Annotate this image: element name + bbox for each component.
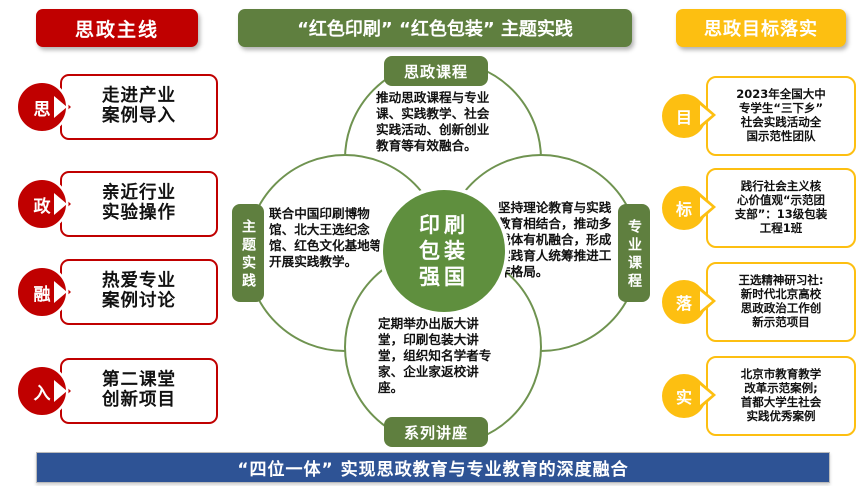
right-callout-1-line1: 2023年全国大中 [736, 88, 826, 102]
petal-label-right: 专业课程 [618, 204, 650, 302]
right-callout-1-line2: 专学生“三下乡” [739, 102, 823, 116]
right-arrow-inner-icon-2 [700, 197, 712, 217]
right-callout-2-box: 践行社会主义核 心价值观“示范团 支部”：13级包装 工程1班 [706, 168, 856, 248]
petal-label-top: 思政课程 [384, 56, 488, 86]
right-arrow-inner-icon-4 [700, 385, 712, 405]
left-arrow-inner-icon-2 [54, 193, 67, 215]
left-arrow-inner-icon-4 [54, 380, 67, 402]
right-callout-4-line2: 改革示范案例; [744, 382, 818, 396]
right-callout-3: 王选精神研习社: 新时代北京高校 思政政治工作创 新示范项目 落 [660, 262, 856, 342]
right-arrow-inner-icon-1 [700, 105, 712, 125]
left-callout-1-line2: 案例导入 [102, 107, 176, 127]
right-callout-3-line3: 思政政治工作创 [741, 302, 822, 316]
right-callout-2-line2: 心价值观“示范团 [737, 194, 825, 208]
petal-bottom-text: 定期举办出版大讲堂，印刷包装大讲堂，组织知名学者专家、企业家返校讲座。 [378, 316, 502, 397]
left-callout-2: 亲近行业 实验操作 政 [18, 171, 218, 237]
petal-left-text: 联合中国印刷博物馆、北大王选纪念馆、红色文化基地等开展实践教学。 [269, 206, 391, 270]
left-callout-4-line1: 第二课堂 [102, 371, 176, 391]
left-callout-1-box: 走进产业 案例导入 [60, 74, 218, 140]
header-pill-left: 思政主线 [36, 9, 198, 47]
right-callout-2-line4: 工程1班 [760, 222, 803, 236]
left-callout-1: 走进产业 案例导入 思 [18, 74, 218, 140]
diagram-core-circle: 印刷 包装 强国 [379, 186, 509, 316]
left-callout-3-box: 热爱专业 案例讨论 [60, 259, 218, 325]
right-callout-2: 践行社会主义核 心价值观“示范团 支部”：13级包装 工程1班 标 [660, 168, 856, 248]
footer-banner: “四位一体” 实现思政教育与专业教育的深度融合 [36, 452, 830, 483]
right-callout-4-line1: 北京市教育教学 [741, 368, 822, 382]
right-callout-4-line4: 实践优秀案例 [747, 410, 816, 424]
core-line-3: 强国 [419, 264, 469, 290]
left-callout-3: 热爱专业 案例讨论 融 [18, 259, 218, 325]
right-arrow-inner-icon-3 [700, 291, 712, 311]
left-callout-2-line1: 亲近行业 [102, 184, 176, 204]
header-pill-center: “红色印刷” “红色包装” 主题实践 [238, 9, 632, 47]
left-callout-1-line1: 走进产业 [102, 87, 176, 107]
header-pill-right: 思政目标落实 [676, 9, 846, 47]
left-callout-4: 第二课堂 创新项目 入 [18, 358, 218, 424]
left-callout-2-box: 亲近行业 实验操作 [60, 171, 218, 237]
right-callout-4-box: 北京市教育教学 改革示范案例; 首都大学生社会 实践优秀案例 [706, 356, 856, 436]
petal-label-bottom: 系列讲座 [384, 417, 488, 447]
left-arrow-inner-icon-1 [54, 96, 67, 118]
right-callout-4: 北京市教育教学 改革示范案例; 首都大学生社会 实践优秀案例 实 [660, 356, 856, 436]
left-callout-3-line2: 案例讨论 [102, 292, 176, 312]
right-callout-1: 2023年全国大中 专学生“三下乡” 社会实践活动全 国示范性团队 目 [660, 76, 856, 156]
right-callout-3-line4: 新示范项目 [752, 316, 810, 330]
right-callout-2-line1: 践行社会主义核 [741, 180, 822, 194]
right-callout-1-box: 2023年全国大中 专学生“三下乡” 社会实践活动全 国示范性团队 [706, 76, 856, 156]
core-line-1: 印刷 [419, 212, 469, 238]
four-petal-diagram: 推动思政课程与专业课、实践教学、社会实践活动、创新创业教育等有效融合。 联合中国… [226, 58, 656, 450]
left-callout-2-line2: 实验操作 [102, 204, 176, 224]
right-callout-4-line3: 首都大学生社会 [741, 396, 822, 410]
left-arrow-inner-icon-3 [54, 281, 67, 303]
right-callout-1-line4: 国示范性团队 [747, 130, 816, 144]
right-callout-3-box: 王选精神研习社: 新时代北京高校 思政政治工作创 新示范项目 [706, 262, 856, 342]
petal-right-text: 坚持理论教育与实践教育相结合，推动多载体有机融合，形成实践育人统筹推进工作格局。 [498, 200, 620, 281]
slide-canvas: 思政主线 “红色印刷” “红色包装” 主题实践 思政目标落实 走进产业 案例导入… [0, 0, 864, 486]
right-callout-2-line3: 支部”：13级包装 [735, 208, 828, 222]
left-callout-3-line1: 热爱专业 [102, 272, 176, 292]
left-callout-4-box: 第二课堂 创新项目 [60, 358, 218, 424]
right-callout-1-line3: 社会实践活动全 [741, 116, 822, 130]
right-callout-3-line2: 新时代北京高校 [741, 288, 822, 302]
right-callout-3-line1: 王选精神研习社: [738, 274, 823, 288]
left-callout-4-line2: 创新项目 [102, 391, 176, 411]
petal-top-text: 推动思政课程与专业课、实践教学、社会实践活动、创新创业教育等有效融合。 [376, 90, 500, 154]
core-line-2: 包装 [419, 238, 469, 264]
petal-label-left: 主题实践 [232, 204, 264, 302]
